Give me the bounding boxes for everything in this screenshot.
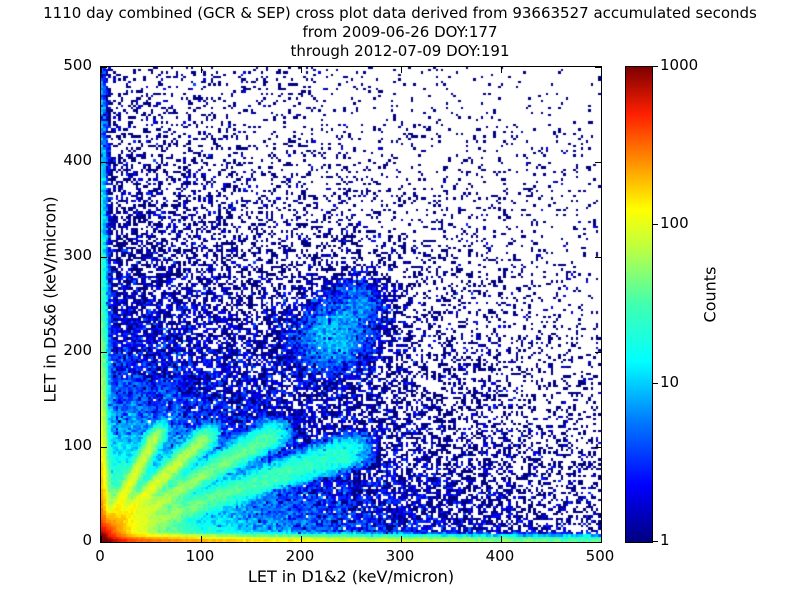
colorbar-tick-label: 10 — [660, 373, 679, 391]
colorbar-tick-label: 1000 — [660, 56, 698, 74]
x-tick-label: 300 — [365, 547, 435, 565]
colorbar-label: Counts — [701, 195, 720, 395]
x-tick-mark — [201, 536, 202, 542]
title-line-1: 1110 day combined (GCR & SEP) cross plot… — [0, 4, 800, 23]
y-tick-mark — [595, 257, 601, 258]
colorbar-tick-mark — [653, 66, 658, 67]
colorbar-tick-mark — [653, 383, 658, 384]
colorbar-tick-mark — [653, 541, 658, 542]
x-axis-label: LET in D1&2 (keV/micron) — [100, 567, 602, 586]
let-cross-plot-figure: 1110 day combined (GCR & SEP) cross plot… — [0, 0, 800, 600]
y-tick-mark — [101, 542, 107, 543]
figure-title: 1110 day combined (GCR & SEP) cross plot… — [0, 4, 800, 61]
x-tick-mark — [401, 536, 402, 542]
y-tick-mark — [101, 257, 107, 258]
plot-area — [100, 66, 602, 543]
x-tick-label: 500 — [565, 547, 635, 565]
x-tick-label: 100 — [165, 547, 235, 565]
x-tick-mark — [401, 67, 402, 73]
y-tick-mark — [595, 447, 601, 448]
x-tick-mark — [301, 67, 302, 73]
x-tick-mark — [601, 67, 602, 73]
x-tick-label: 200 — [265, 547, 335, 565]
y-tick-label: 0 — [12, 531, 92, 549]
x-tick-mark — [501, 67, 502, 73]
y-tick-mark — [101, 352, 107, 353]
y-tick-mark — [101, 162, 107, 163]
y-tick-mark — [101, 67, 107, 68]
y-tick-mark — [595, 542, 601, 543]
x-tick-mark — [501, 536, 502, 542]
y-tick-label: 500 — [12, 56, 92, 74]
x-tick-mark — [601, 536, 602, 542]
colorbar-tick-label: 100 — [660, 214, 689, 232]
density-heatmap-canvas — [101, 67, 601, 542]
y-axis-label: LET in D5&6 (keV/micron) — [41, 100, 60, 500]
colorbar-tick-label: 1 — [660, 531, 670, 549]
title-line-2: from 2009-06-26 DOY:177 — [0, 23, 800, 42]
y-tick-mark — [595, 352, 601, 353]
colorbar — [625, 66, 653, 543]
y-tick-mark — [595, 162, 601, 163]
x-tick-mark — [301, 536, 302, 542]
colorbar-gradient — [626, 67, 652, 542]
x-tick-mark — [201, 67, 202, 73]
y-tick-mark — [101, 447, 107, 448]
colorbar-tick-mark — [653, 224, 658, 225]
x-tick-label: 400 — [465, 547, 535, 565]
y-tick-mark — [595, 67, 601, 68]
x-tick-label: 0 — [65, 547, 135, 565]
